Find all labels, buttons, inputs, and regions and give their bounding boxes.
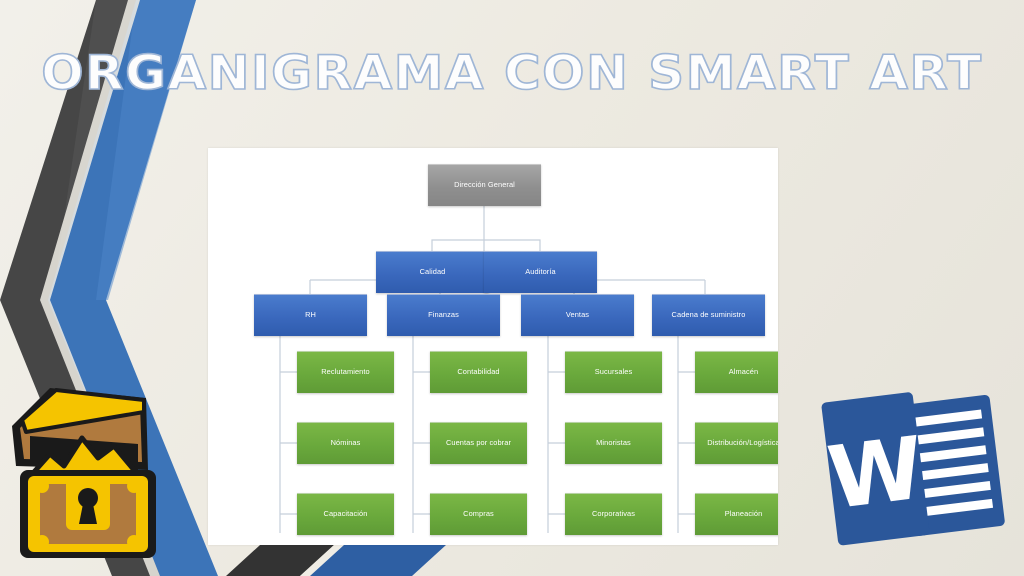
- org-node-label: Corporativas: [592, 510, 635, 519]
- slide-title: ORGANIGRAMA CON SMART ART: [0, 46, 1024, 101]
- org-node-label: Cuentas por cobrar: [446, 439, 511, 448]
- org-chart: Dirección General Calidad Auditoría RH F…: [208, 148, 778, 545]
- presentation-slide: ORGANIGRAMA CON SMART ART: [0, 0, 1024, 576]
- org-node-label: Dirección General: [454, 181, 515, 190]
- org-node-label: Reclutamiento: [321, 368, 370, 377]
- org-node-ventas[interactable]: Ventas: [521, 294, 634, 336]
- microsoft-word-icon: W: [810, 376, 1020, 566]
- org-node-direccion-general[interactable]: Dirección General: [428, 164, 541, 206]
- org-node-label: Sucursales: [595, 368, 633, 377]
- org-node-compras[interactable]: Compras: [430, 493, 527, 535]
- org-node-label: Auditoría: [525, 268, 555, 277]
- org-node-label: Finanzas: [428, 311, 459, 320]
- org-node-rh[interactable]: RH: [254, 294, 367, 336]
- org-node-finanzas[interactable]: Finanzas: [387, 294, 500, 336]
- org-node-minoristas[interactable]: Minoristas: [565, 422, 662, 464]
- org-node-calidad[interactable]: Calidad: [376, 251, 489, 293]
- org-node-reclutamiento[interactable]: Reclutamiento: [297, 351, 394, 393]
- org-node-capacitacion[interactable]: Capacitación: [297, 493, 394, 535]
- org-node-label: Planeación: [725, 510, 763, 519]
- treasure-chest-icon: [0, 374, 166, 570]
- org-node-label: RH: [305, 311, 316, 320]
- org-node-label: Distribución/Logística: [707, 439, 778, 448]
- org-node-planeacion[interactable]: Planeación: [695, 493, 778, 535]
- org-node-nominas[interactable]: Nóminas: [297, 422, 394, 464]
- org-node-label: Contabilidad: [457, 368, 499, 377]
- org-chart-panel: Dirección General Calidad Auditoría RH F…: [208, 148, 778, 545]
- org-node-label: Compras: [463, 510, 494, 519]
- org-node-contabilidad[interactable]: Contabilidad: [430, 351, 527, 393]
- org-node-label: Minoristas: [596, 439, 631, 448]
- org-node-label: Almacén: [729, 368, 758, 377]
- org-node-auditoria[interactable]: Auditoría: [484, 251, 597, 293]
- org-node-label: Capacitación: [324, 510, 368, 519]
- org-node-corporativas[interactable]: Corporativas: [565, 493, 662, 535]
- org-node-label: Calidad: [420, 268, 446, 277]
- org-node-label: Cadena de suministro: [672, 311, 746, 320]
- org-node-cadena-de-suministro[interactable]: Cadena de suministro: [652, 294, 765, 336]
- org-node-label: Nóminas: [331, 439, 361, 448]
- org-node-label: Ventas: [566, 311, 589, 320]
- org-node-cuentas-por-cobrar[interactable]: Cuentas por cobrar: [430, 422, 527, 464]
- word-icon-letter: W: [823, 418, 929, 529]
- org-node-almacen[interactable]: Almacén: [695, 351, 778, 393]
- org-node-sucursales[interactable]: Sucursales: [565, 351, 662, 393]
- org-chart-connectors: [208, 148, 778, 545]
- org-node-distribucion-logistica[interactable]: Distribución/Logística: [695, 422, 778, 464]
